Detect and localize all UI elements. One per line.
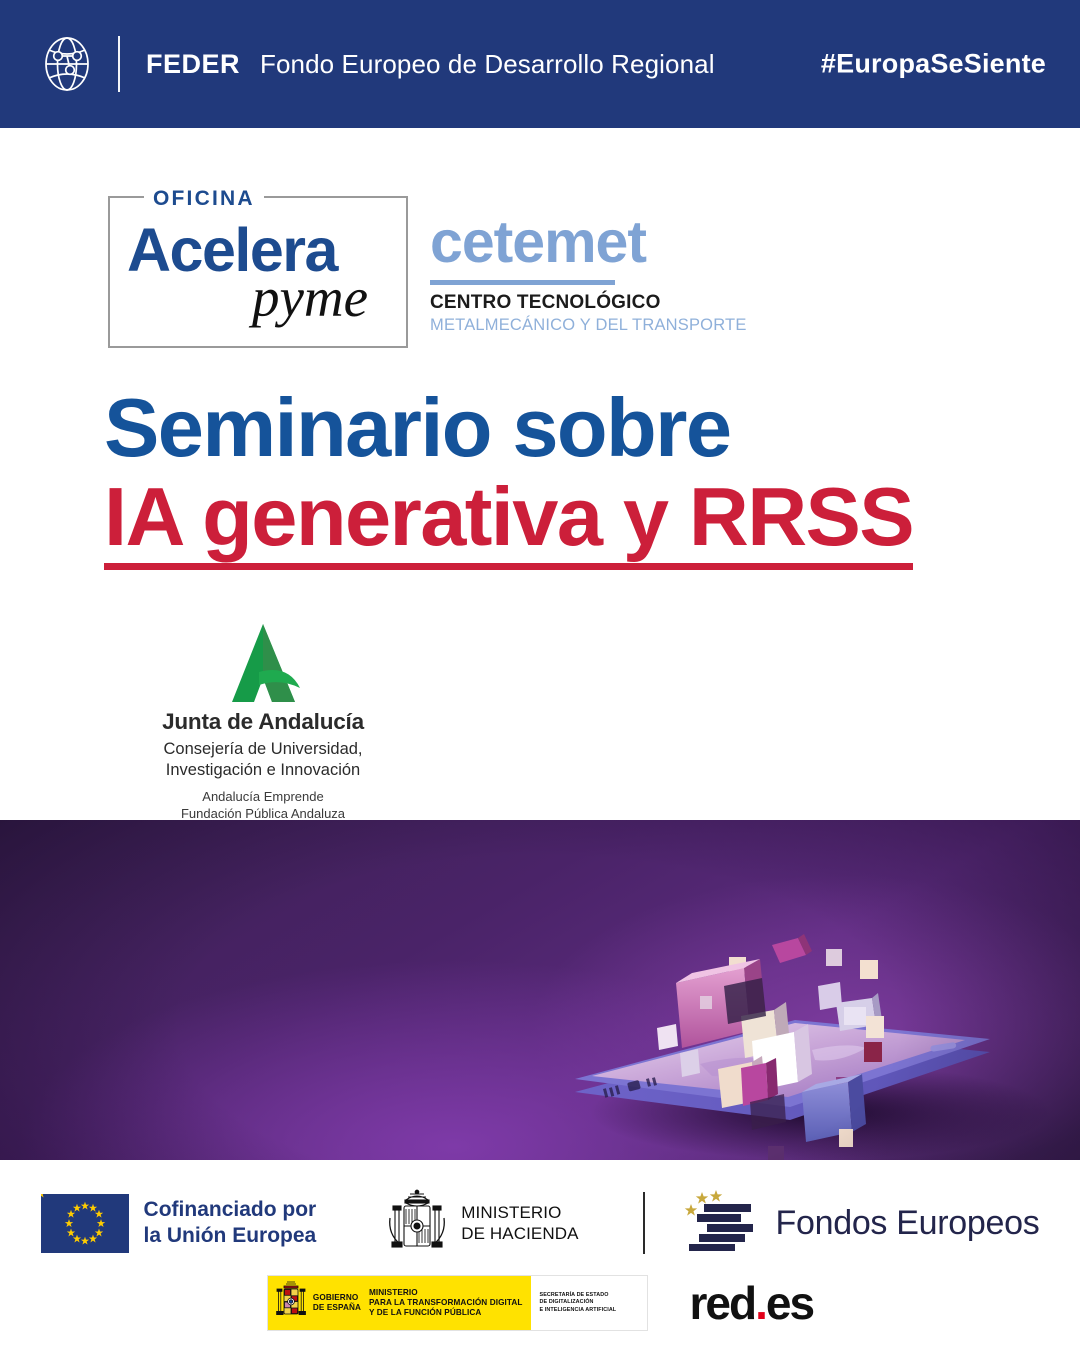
footer-row-primary: Cofinanciado por la Unión Europea <box>0 1180 1080 1266</box>
acelera-pyme-eyebrow: OFICINA <box>144 187 264 211</box>
cetemet-rule <box>430 280 615 285</box>
spain-coat-of-arms-icon <box>274 1278 308 1329</box>
spain-coat-of-arms-icon <box>386 1188 448 1259</box>
acelera-pyme-word2: pyme <box>252 270 368 325</box>
title-line-2: IA generativa y RRSS <box>104 475 913 571</box>
eu-flag-icon <box>41 1194 129 1253</box>
junta-consejeria-line-1: Consejería de Universidad, <box>103 739 423 760</box>
junta-andalucia-a-icon <box>196 622 331 704</box>
header-divider <box>118 36 120 92</box>
footer-divider <box>643 1192 645 1254</box>
redes-dot: . <box>755 1277 766 1329</box>
cetemet-wordmark: cetemet <box>430 214 747 270</box>
poster-root: FEDER Fondo Europeo de Desarrollo Region… <box>0 0 1080 1350</box>
hacienda-label-line-1: MINISTERIO <box>461 1202 578 1223</box>
ministerio-line-3: Y DE LA FUNCIÓN PÚBLICA <box>369 1308 523 1318</box>
redes-logo: red.es <box>690 1280 814 1326</box>
junta-name: Junta de Andalucía <box>103 709 423 735</box>
gobierno-line-1: GOBIERNO <box>313 1293 361 1303</box>
feder-abbr: FEDER <box>146 49 240 80</box>
page-title: Seminario sobre IA generativa y RRSS <box>104 386 1044 570</box>
globe-network-icon <box>36 33 98 95</box>
gobierno-line-2: DE ESPAÑA <box>313 1303 361 1313</box>
junta-consejeria-line-2: Investigación e Innovación <box>103 760 423 781</box>
gobierno-ministerio-logo: GOBIERNO DE ESPAÑA MINISTERIO PARA LA TR… <box>267 1275 648 1331</box>
redes-part-1: red <box>690 1277 756 1329</box>
fondos-europeos-label: Fondos Europeos <box>776 1204 1040 1243</box>
ministerio-line-1: MINISTERIO <box>369 1288 523 1298</box>
acelera-pyme-logo: OFICINA Acelera pyme <box>108 196 408 348</box>
ministerio-hacienda-logo: MINISTERIO DE HACIENDA <box>386 1188 578 1259</box>
secretaria-estado-block: SECRETARÍA DE ESTADO DE DIGITALIZACIÓN E… <box>531 1276 647 1330</box>
hero-vignette <box>0 820 1080 1160</box>
eu-cofinanced-logo: Cofinanciado por la Unión Europea <box>41 1194 317 1253</box>
gobierno-espana-block: GOBIERNO DE ESPAÑA MINISTERIO PARA LA TR… <box>268 1276 531 1330</box>
cetemet-tagline-2: METALMECÁNICO Y DEL TRANSPORTE <box>430 316 747 335</box>
cetemet-logo: cetemet CENTRO TECNOLÓGICO METALMECÁNICO… <box>430 196 747 335</box>
title-line-1: Seminario sobre <box>104 386 1044 471</box>
feder-header-bar: FEDER Fondo Europeo de Desarrollo Region… <box>0 0 1080 128</box>
junta-andalucia-logo: Junta de Andalucía Consejería de Univers… <box>103 622 423 822</box>
fondos-europeos-logo: Fondos Europeos <box>679 1190 1040 1257</box>
fondos-europeos-icon <box>679 1190 759 1257</box>
footer-logos: Cofinanciado por la Unión Europea <box>0 1160 1080 1350</box>
redes-part-2: es <box>766 1277 813 1329</box>
eu-label-line-2: la Unión Europea <box>144 1223 317 1249</box>
feder-full-name: Fondo Europeo de Desarrollo Regional <box>260 49 715 80</box>
hero-image <box>0 820 1080 1160</box>
ministerio-line-2: PARA LA TRANSFORMACIÓN DIGITAL <box>369 1298 523 1308</box>
campaign-hashtag: #EuropaSeSiente <box>821 49 1046 80</box>
eu-label-line-1: Cofinanciado por <box>144 1197 317 1223</box>
brand-logo-row: OFICINA Acelera pyme cetemet CENTRO TECN… <box>108 196 747 348</box>
hacienda-label-line-2: DE HACIENDA <box>461 1223 578 1244</box>
cetemet-tagline-1: CENTRO TECNOLÓGICO <box>430 292 747 314</box>
footer-row-secondary: GOBIERNO DE ESPAÑA MINISTERIO PARA LA TR… <box>0 1272 1080 1334</box>
junta-fundacion-line-1: Andalucía Emprende <box>103 789 423 805</box>
secretaria-line-2: DE DIGITALIZACIÓN <box>540 1299 617 1306</box>
secretaria-line-3: E INTELIGENCIA ARTIFICIAL <box>540 1307 617 1314</box>
